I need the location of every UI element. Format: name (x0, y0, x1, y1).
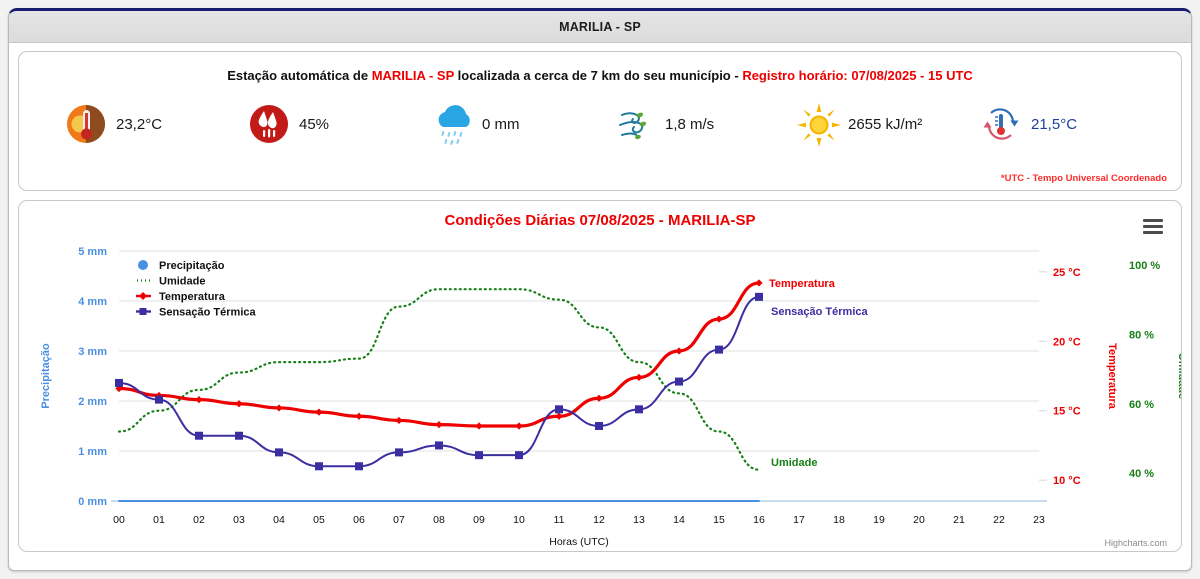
svg-text:Horas (UTC): Horas (UTC) (549, 536, 609, 548)
temperature-value: 23,2°C (116, 116, 162, 133)
station-prefix: Estação automática de (227, 68, 372, 83)
svg-text:Temperatura: Temperatura (159, 291, 226, 303)
metric-precipitation: 0 mm (429, 101, 612, 147)
solar-radiation-value: 2655 kJ/m² (848, 116, 922, 133)
metric-thermal-sensation: 21,5°C (978, 101, 1161, 147)
station-middle: localizada a cerca de 7 km do seu municí… (454, 68, 742, 83)
series-point (395, 417, 402, 424)
series-point (555, 405, 563, 413)
svg-text:08: 08 (433, 514, 445, 526)
series-point (435, 421, 442, 428)
svg-text:15: 15 (713, 514, 725, 526)
svg-text:22: 22 (993, 514, 1005, 526)
svg-text:4 mm: 4 mm (78, 296, 107, 308)
svg-text:40 %: 40 % (1129, 468, 1154, 480)
daily-conditions-chart-panel: Condições Diárias 07/08/2025 - MARILIA-S… (18, 200, 1182, 552)
svg-text:5 mm: 5 mm (78, 246, 107, 258)
station-summary-panel: Estação automática de MARILIA - SP local… (18, 51, 1182, 191)
series-end-label: Sensação Térmica (771, 306, 868, 318)
svg-text:Sensação Térmica: Sensação Térmica (159, 307, 256, 319)
series-point (395, 448, 403, 456)
svg-text:09: 09 (473, 514, 485, 526)
svg-text:20: 20 (913, 514, 925, 526)
svg-text:16: 16 (753, 514, 765, 526)
metrics-row: 23,2°C 45% (33, 101, 1167, 147)
metric-temperature: 23,2°C (63, 101, 246, 147)
wind-icon (612, 101, 658, 147)
series-point (755, 293, 763, 301)
station-record-time: Registro horário: 07/08/2025 - 15 UTC (742, 68, 972, 83)
series-point (555, 413, 562, 420)
metric-solar-radiation: 2655 kJ/m² (795, 101, 978, 147)
station-name: MARILIA - SP (372, 68, 454, 83)
series-point (595, 422, 603, 430)
station-description: Estação automática de MARILIA - SP local… (33, 68, 1167, 83)
svg-text:Temperatura: Temperatura (1106, 343, 1118, 410)
humidity-value: 45% (299, 116, 329, 133)
series-point (475, 422, 482, 429)
solar-radiation-icon (795, 101, 841, 147)
svg-text:11: 11 (554, 514, 565, 526)
series-point (435, 441, 443, 449)
svg-text:2 mm: 2 mm (78, 396, 107, 408)
thermal-sensation-icon (978, 101, 1024, 147)
precipitation-value: 0 mm (482, 116, 520, 133)
metric-wind: 1,8 m/s (612, 101, 795, 147)
series-end-label: Temperatura (769, 278, 836, 290)
chart-title: Condições Diárias 07/08/2025 - MARILIA-S… (19, 201, 1181, 229)
svg-text:04: 04 (273, 514, 285, 526)
svg-text:1 mm: 1 mm (78, 446, 107, 458)
svg-text:18: 18 (833, 514, 845, 526)
chart-plot-area: 0 mm1 mm2 mm3 mm4 mm5 mmPrecipitação10 °… (19, 233, 1182, 551)
precipitation-icon (429, 101, 475, 147)
svg-text:01: 01 (153, 514, 165, 526)
svg-text:21: 21 (953, 514, 965, 526)
series-line (119, 283, 759, 426)
svg-text:Precipitação: Precipitação (159, 260, 225, 272)
svg-text:60 %: 60 % (1129, 399, 1154, 411)
svg-text:23: 23 (1033, 514, 1045, 526)
utc-footnote: *UTC - Tempo Universal Coordenado (1001, 173, 1167, 184)
series-point (715, 346, 723, 354)
series-line (119, 297, 759, 466)
series-point (195, 432, 203, 440)
svg-text:00: 00 (113, 514, 125, 526)
svg-text:05: 05 (313, 514, 325, 526)
chart-svg: 0 mm1 mm2 mm3 mm4 mm5 mmPrecipitação10 °… (19, 233, 1182, 551)
series-point (515, 451, 523, 459)
thermal-sensation-value: 21,5°C (1031, 116, 1077, 133)
series-point (635, 405, 643, 413)
series-point (755, 279, 762, 286)
humidity-icon (246, 101, 292, 147)
svg-text:Umidade: Umidade (159, 276, 205, 288)
svg-text:Umidade: Umidade (1176, 353, 1182, 399)
svg-text:03: 03 (233, 514, 245, 526)
series-end-label: Umidade (771, 457, 817, 469)
series-point (275, 404, 282, 411)
svg-text:07: 07 (393, 514, 405, 526)
svg-text:25 °C: 25 °C (1053, 267, 1081, 279)
svg-text:80 %: 80 % (1129, 329, 1154, 341)
series-point (155, 396, 163, 404)
series-point (475, 451, 483, 459)
svg-text:Precipitação: Precipitação (40, 343, 52, 409)
series-point (355, 413, 362, 420)
series-point (515, 422, 522, 429)
series-point (715, 315, 722, 322)
highcharts-credit[interactable]: Highcharts.com (1104, 538, 1167, 548)
window-titlebar: MARILIA - SP (9, 11, 1191, 43)
svg-text:06: 06 (353, 514, 365, 526)
metric-humidity: 45% (246, 101, 429, 147)
series-point (355, 462, 363, 470)
series-point (675, 347, 682, 354)
series-point (235, 432, 243, 440)
series-point (675, 378, 683, 386)
svg-text:10 °C: 10 °C (1053, 475, 1081, 487)
svg-text:100 %: 100 % (1129, 260, 1160, 272)
svg-text:02: 02 (193, 514, 205, 526)
series-point (275, 448, 283, 456)
svg-text:13: 13 (633, 514, 645, 526)
wind-value: 1,8 m/s (665, 116, 714, 133)
station-window: MARILIA - SP Estação automática de MARIL… (8, 8, 1192, 571)
svg-text:12: 12 (593, 514, 605, 526)
svg-text:3 mm: 3 mm (78, 346, 107, 358)
svg-text:17: 17 (793, 514, 805, 526)
series-point (315, 409, 322, 416)
series-point (115, 379, 123, 387)
svg-text:19: 19 (873, 514, 885, 526)
window-title: MARILIA - SP (559, 20, 641, 34)
svg-text:20 °C: 20 °C (1053, 336, 1081, 348)
svg-text:15 °C: 15 °C (1053, 406, 1081, 418)
svg-text:14: 14 (673, 514, 685, 526)
svg-text:0 mm: 0 mm (78, 496, 107, 508)
series-point (195, 396, 202, 403)
svg-text:10: 10 (513, 514, 525, 526)
series-point (315, 462, 323, 470)
window-body: Estação automática de MARILIA - SP local… (9, 43, 1191, 552)
series-point (635, 374, 642, 381)
temperature-icon (63, 101, 109, 147)
